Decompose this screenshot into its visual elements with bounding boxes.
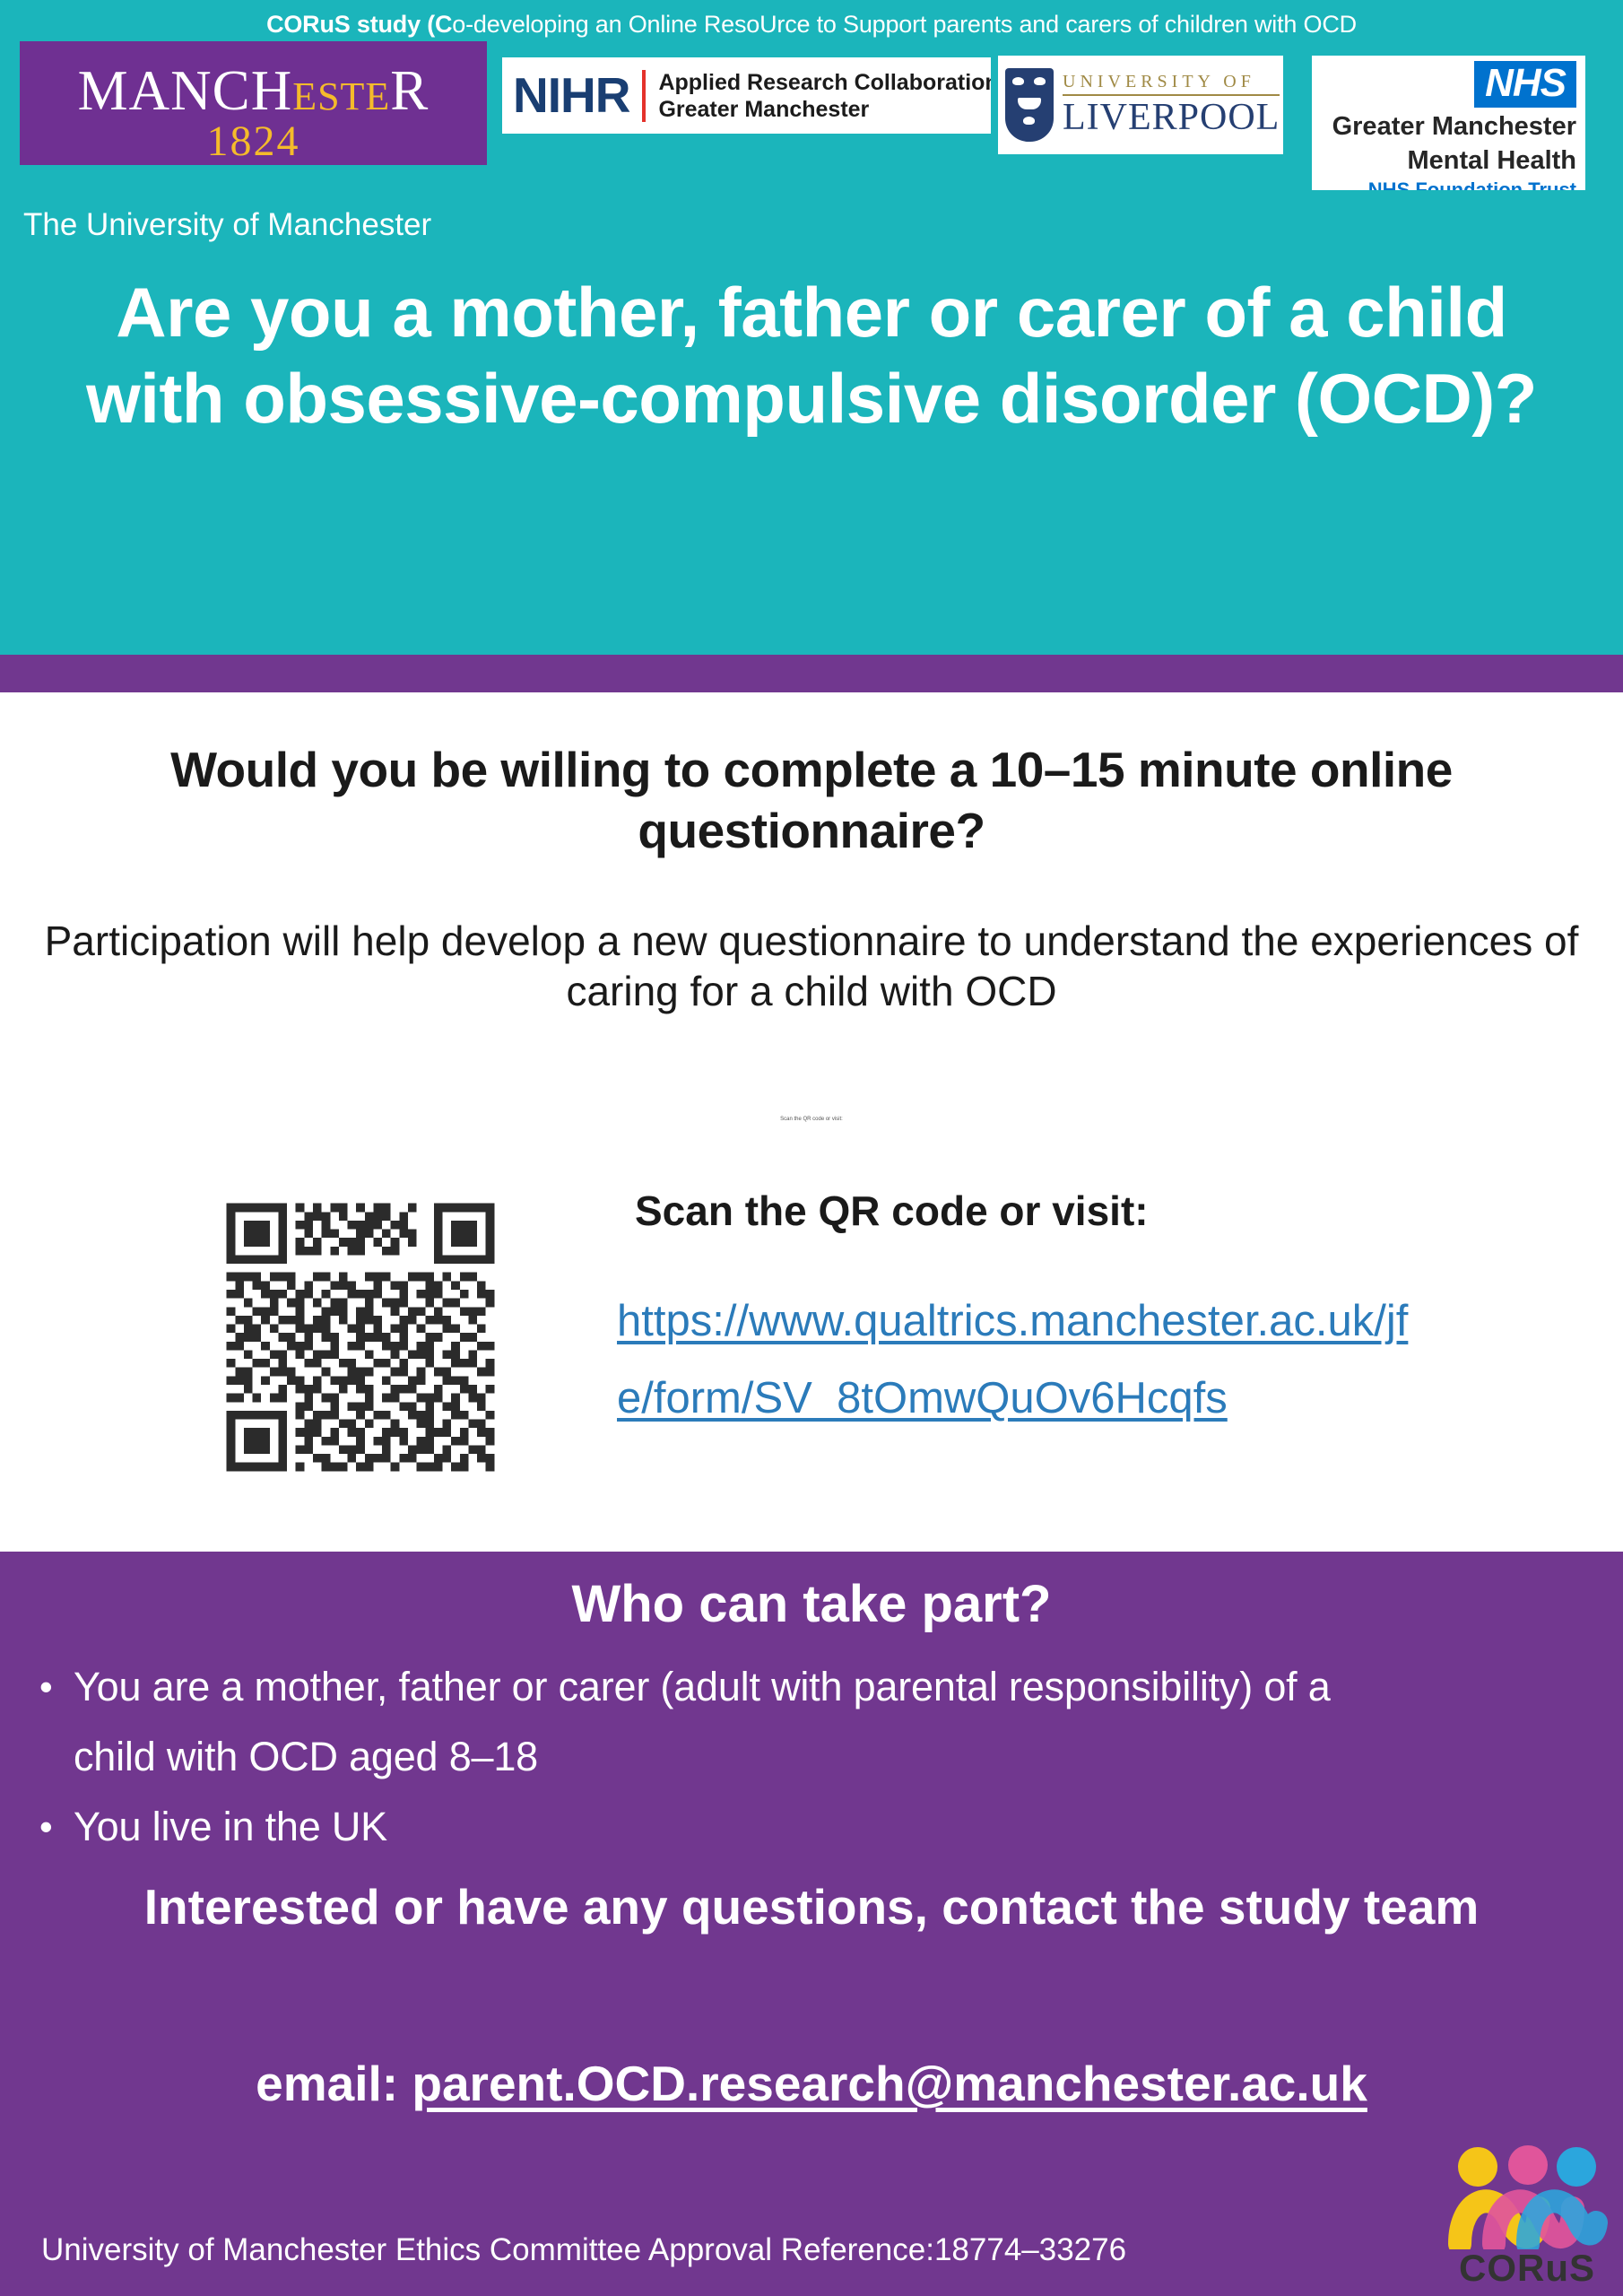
nihr-wordmark: NIHR	[513, 71, 629, 120]
liverpool-line-2: LIVERPOOL	[1063, 96, 1280, 139]
contact-heading: Interested or have any questions, contac…	[36, 1876, 1587, 1937]
corus-people-icon	[1442, 2144, 1612, 2249]
nihr-line-2: Greater Manchester	[658, 96, 991, 123]
corus-logo: CORuS	[1442, 2144, 1612, 2296]
nhs-gmmh-logo: NHS Greater Manchester Mental Health NHS…	[1312, 56, 1585, 190]
email-label: email:	[256, 2056, 412, 2111]
study-title-bold: CORuS study (C	[266, 11, 452, 38]
participation-description: Participation will help develop a new qu…	[36, 916, 1587, 1016]
list-item: You are a mother, father or carer (adult…	[27, 1652, 1417, 1792]
manchester-caption: The University of Manchester	[23, 206, 431, 244]
study-title-strip: CORuS study (Co-developing an Online Res…	[0, 9, 1623, 39]
nihr-divider-rule	[642, 70, 646, 122]
email-line: email: parent.OCD.research@manchester.ac…	[27, 2054, 1596, 2113]
manchester-wordmark: MANCHESTER	[78, 63, 430, 125]
eligibility-list: You are a mother, father or carer (adult…	[27, 1652, 1417, 1862]
scan-qr-label: Scan the QR code or visit:	[635, 1186, 1149, 1236]
tiny-ghost-text: Scan the QR code or visit:	[0, 1116, 1623, 1123]
page-title: Are you a mother, father or carer of a c…	[81, 269, 1542, 441]
nhs-wordmark: NHS	[1474, 61, 1576, 108]
qr-code[interactable]	[218, 1195, 503, 1480]
who-can-take-part-heading: Who can take part?	[0, 1573, 1623, 1636]
study-title-rest: o-developing an Online ResoUrce to Suppo…	[452, 11, 1357, 38]
corus-wordmark: CORuS	[1442, 2248, 1612, 2289]
gmmh-line-1: Greater Manchester	[1321, 111, 1576, 142]
header-teal-band: CORuS study (Co-developing an Online Res…	[0, 0, 1623, 655]
nihr-line-1: Applied Research Collaboration	[658, 69, 991, 96]
email-address[interactable]: parent.OCD.research@manchester.ac.uk	[412, 2056, 1367, 2111]
liverpool-logo: UNIVERSITY OF LIVERPOOL	[998, 56, 1283, 154]
gmmh-line-2: Mental Health	[1321, 145, 1576, 176]
list-item: You live in the UK	[27, 1792, 1417, 1862]
manchester-logo: MANCHESTER 1824	[20, 41, 487, 165]
manchester-word-manch: MANCH	[78, 59, 293, 122]
manchester-word-est: ESTE	[292, 74, 390, 118]
section-divider	[0, 655, 1623, 692]
gmmh-line-3: NHS Foundation Trust	[1321, 178, 1576, 190]
questionnaire-question: Would you be willing to complete a 10–15…	[85, 739, 1538, 861]
ethics-approval-reference: University of Manchester Ethics Committe…	[41, 2231, 1126, 2269]
manchester-word-r: R	[390, 59, 429, 122]
qr-code-icon	[218, 1195, 503, 1480]
nihr-logo: NIHR Applied Research Collaboration Grea…	[502, 57, 991, 134]
manchester-year: 1824	[207, 120, 300, 163]
partner-logo-row: MANCHESTER 1824 NIHR Applied Research Co…	[0, 41, 1623, 167]
eligibility-section: Who can take part? You are a mother, fat…	[0, 1552, 1623, 2296]
poster-root: CORuS study (Co-developing an Online Res…	[0, 0, 1623, 2296]
survey-url-link[interactable]: https://www.qualtrics.manchester.ac.uk/j…	[617, 1283, 1424, 1437]
liverpool-shield-icon	[1005, 68, 1054, 142]
liverpool-line-1: UNIVERSITY OF	[1063, 71, 1280, 96]
